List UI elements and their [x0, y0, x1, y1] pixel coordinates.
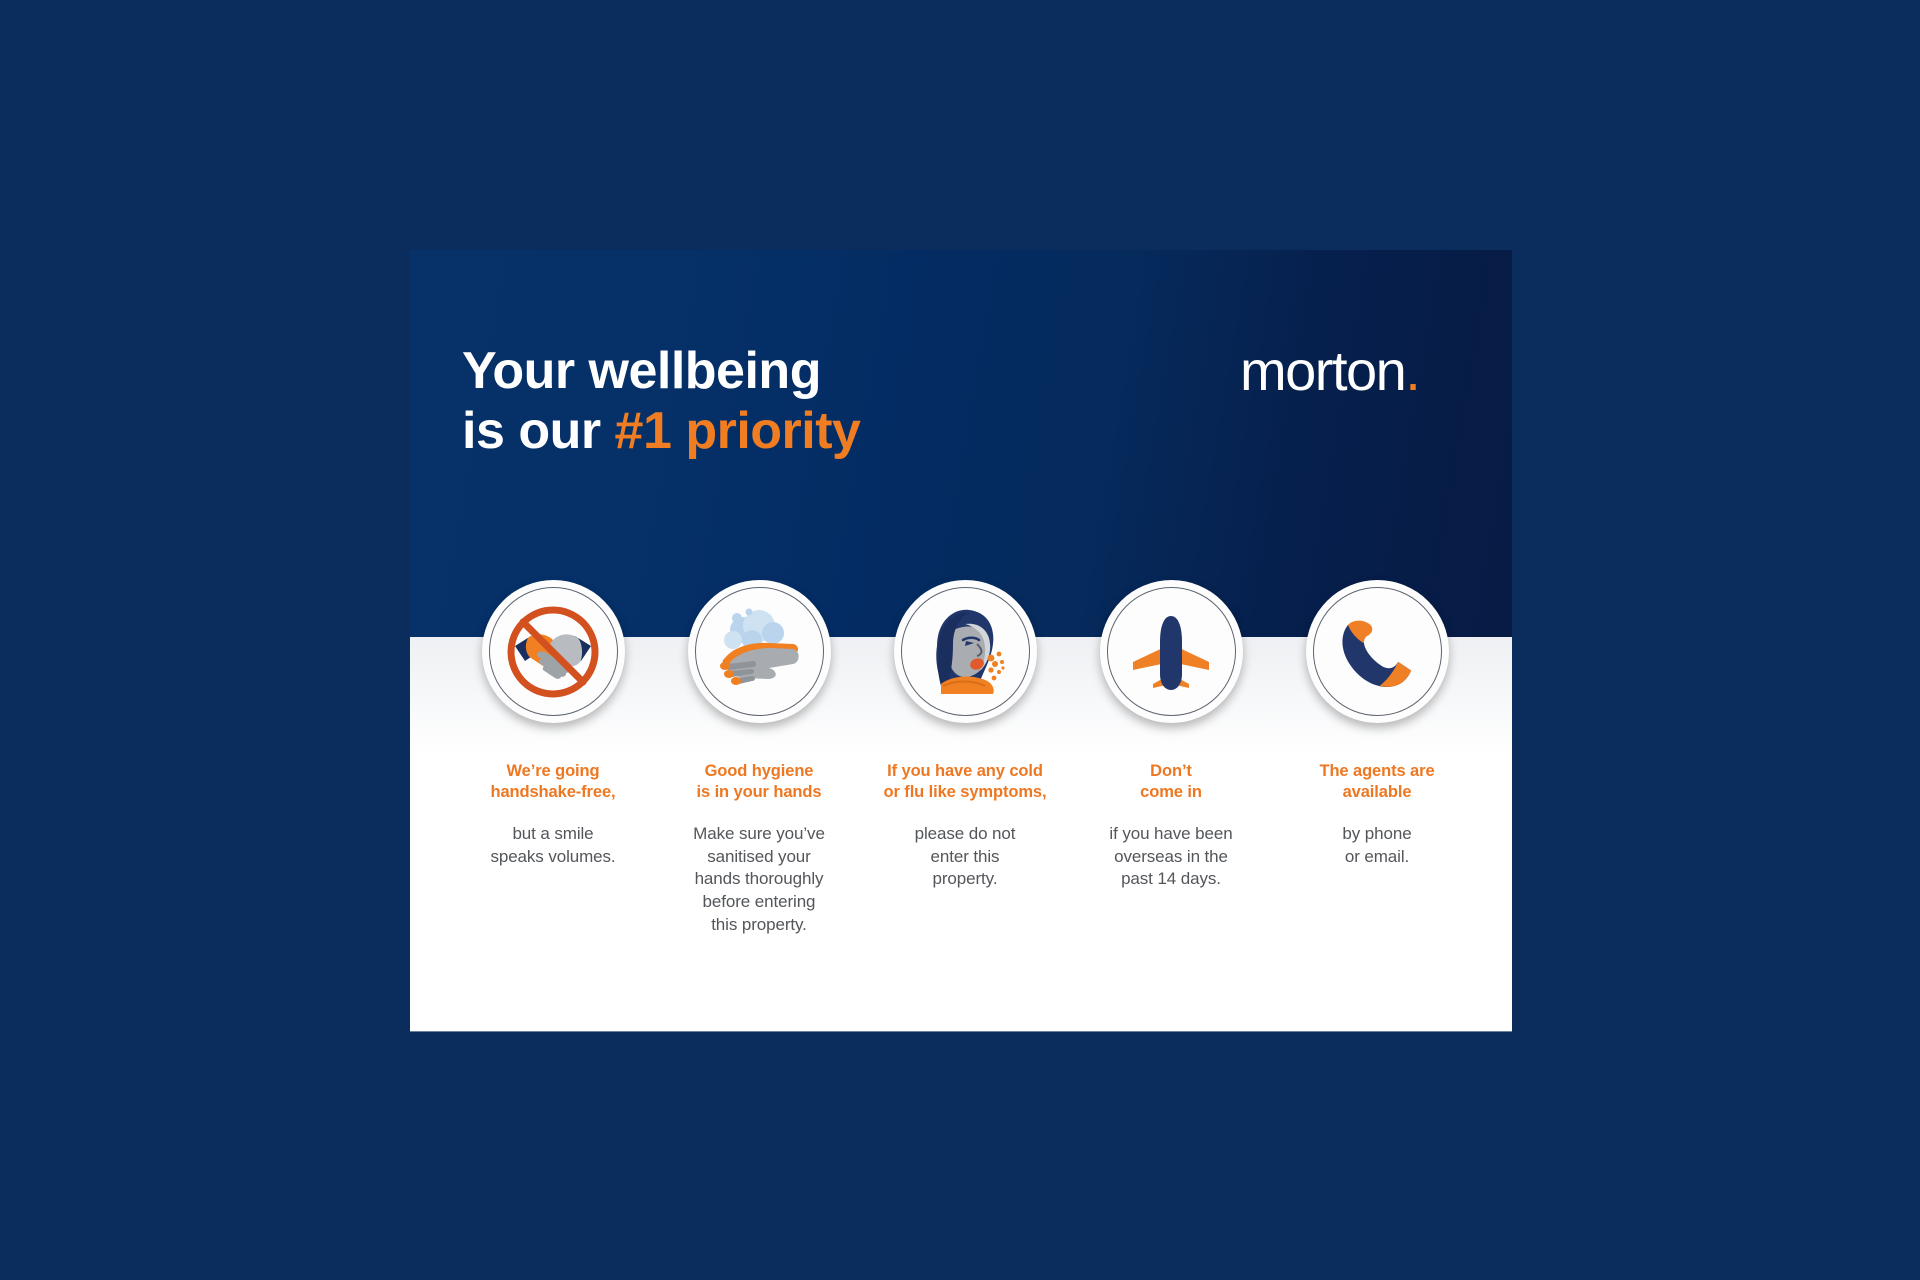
icon-badge — [1100, 580, 1243, 723]
logo-wordmark: morton — [1240, 339, 1405, 402]
airplane-icon — [1119, 600, 1223, 704]
column-body-line-2: or email. — [1342, 846, 1411, 869]
column-body-line-3: hands thoroughly — [693, 868, 825, 891]
headline-accent: #1 priority — [615, 402, 861, 460]
icon-badge — [1306, 580, 1449, 723]
page-title: Your wellbeing is our #1 priority — [462, 342, 1082, 462]
coughing-person-icon — [913, 600, 1017, 704]
column-body-line-1: by phone — [1342, 823, 1411, 846]
column-title-line-1: Don’t — [1140, 761, 1202, 782]
column-body-line-1: if you have been — [1109, 823, 1232, 846]
column-title-line-2: is in your hands — [697, 782, 822, 803]
column-title: Good hygiene is in your hands — [697, 761, 822, 803]
column-title-line-1: Good hygiene — [697, 761, 822, 782]
column-body-line-3: property. — [915, 868, 1016, 891]
column-body-line-3: past 14 days. — [1109, 868, 1232, 891]
morton-logo: morton. — [1240, 343, 1419, 399]
headline-line-1: Your wellbeing — [462, 342, 821, 400]
column-body: please do not enter this property. — [915, 823, 1016, 891]
message-column: Don’t come in if you have been overseas … — [1073, 580, 1269, 891]
message-column: If you have any cold or flu like symptom… — [867, 580, 1063, 891]
column-title: The agents are available — [1319, 761, 1434, 803]
column-title-line-1: If you have any cold — [884, 761, 1047, 782]
column-title-line-1: We’re going — [490, 761, 615, 782]
column-body-line-5: this property. — [693, 914, 825, 937]
column-title-line-2: available — [1319, 782, 1434, 803]
message-column: The agents are available by phone or ema… — [1279, 580, 1475, 868]
column-body-line-4: before entering — [693, 891, 825, 914]
column-title-line-2: handshake-free, — [490, 782, 615, 803]
column-body-line-1: please do not — [915, 823, 1016, 846]
icon-badge — [688, 580, 831, 723]
message-column: We’re going handshake-free, but a smile … — [455, 580, 651, 868]
column-body-line-2: speaks volumes. — [490, 846, 615, 869]
column-title-line-1: The agents are — [1319, 761, 1434, 782]
column-title: If you have any cold or flu like symptom… — [884, 761, 1047, 803]
column-body-line-2: enter this — [915, 846, 1016, 869]
column-body-line-2: overseas in the — [1109, 846, 1232, 869]
column-body-line-1: Make sure you’ve — [693, 823, 825, 846]
headline-line-2: is our #1 priority — [462, 402, 1082, 462]
column-title: Don’t come in — [1140, 761, 1202, 803]
poster-canvas: Your wellbeing is our #1 priority morton… — [0, 0, 1920, 1280]
no-handshake-icon — [501, 600, 605, 704]
telephone-handset-icon — [1325, 600, 1429, 704]
message-columns: We’re going handshake-free, but a smile … — [455, 580, 1475, 936]
headline-line-2-prefix: is our — [462, 402, 615, 460]
icon-badge — [894, 580, 1037, 723]
column-title-line-2: come in — [1140, 782, 1202, 803]
hand-washing-icon — [707, 600, 811, 704]
column-title: We’re going handshake-free, — [490, 761, 615, 803]
icon-badge — [482, 580, 625, 723]
message-column: Good hygiene is in your hands Make sure … — [661, 580, 857, 936]
column-body-line-1: but a smile — [490, 823, 615, 846]
logo-dot: . — [1405, 339, 1419, 402]
column-body: Make sure you’ve sanitised your hands th… — [693, 823, 825, 936]
column-body: but a smile speaks volumes. — [490, 823, 615, 868]
column-body-line-2: sanitised your — [693, 846, 825, 869]
column-title-line-2: or flu like symptoms, — [884, 782, 1047, 803]
column-body: by phone or email. — [1342, 823, 1411, 868]
column-body: if you have been overseas in the past 14… — [1109, 823, 1232, 891]
